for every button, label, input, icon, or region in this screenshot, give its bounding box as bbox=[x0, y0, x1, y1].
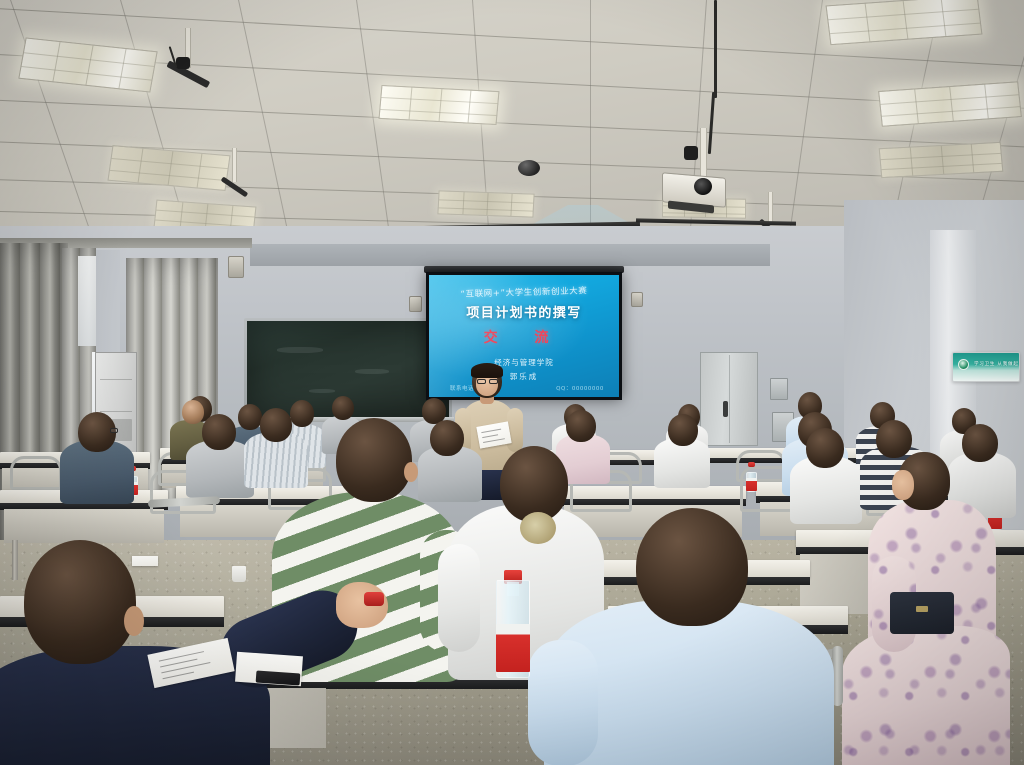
audience-head bbox=[430, 420, 464, 456]
bottle-cap bbox=[748, 462, 755, 467]
bottle-label bbox=[496, 624, 530, 672]
bag-clasp bbox=[916, 606, 928, 612]
ceiling-mount-rod bbox=[768, 192, 773, 224]
paper-cup bbox=[232, 566, 246, 582]
security-camera-dome bbox=[518, 160, 540, 176]
window-light bbox=[78, 256, 96, 346]
audience-arm bbox=[528, 640, 598, 765]
security-camera-head bbox=[176, 57, 190, 69]
audience-head bbox=[202, 414, 236, 450]
dress-skirt bbox=[842, 626, 1010, 765]
desk-front-panel bbox=[4, 509, 164, 543]
ceiling-light-panel bbox=[879, 142, 1004, 178]
wall-sign-text: 学习卫生 从我做起 bbox=[974, 361, 1019, 367]
ceiling-light-panel bbox=[437, 190, 534, 217]
projection-screen[interactable]: “互联网+”大学生创新创业大赛 项目计划书的撰写 交 流 经济与管理学院 郭乐成… bbox=[426, 272, 622, 400]
auxiliary-camera-head bbox=[684, 146, 698, 160]
presenter-glasses bbox=[489, 379, 498, 384]
screen-glare bbox=[429, 275, 619, 397]
ear bbox=[124, 606, 144, 636]
water-bottle bbox=[746, 462, 757, 492]
electrical-panel bbox=[770, 378, 788, 400]
handbag bbox=[890, 592, 954, 634]
presentation-slide: “互联网+”大学生创新创业大赛 项目计划书的撰写 交 流 经济与管理学院 郭乐成… bbox=[429, 275, 619, 397]
audience-arm bbox=[438, 544, 480, 652]
bottle-label bbox=[746, 478, 757, 491]
audience-head bbox=[260, 408, 292, 442]
projector-cable bbox=[714, 0, 717, 98]
audience-head bbox=[806, 428, 844, 468]
presenter-hair bbox=[471, 363, 503, 378]
ceiling-mount-rod bbox=[232, 148, 237, 182]
wall-speaker bbox=[228, 256, 244, 278]
classroom-photo: “互联网+”大学生创新创业大赛 项目计划书的撰写 交 流 经济与管理学院 郭乐成… bbox=[0, 0, 1024, 765]
audience-head bbox=[636, 508, 748, 626]
ceiling-light-panel bbox=[379, 85, 500, 125]
door-handle[interactable] bbox=[723, 401, 728, 417]
desk-leg bbox=[12, 540, 18, 580]
audience-head bbox=[336, 418, 412, 502]
paper-handout bbox=[132, 556, 158, 566]
sign-emblem-icon bbox=[958, 359, 969, 370]
wall-speaker bbox=[409, 296, 422, 312]
chair bbox=[10, 456, 62, 490]
audience-head bbox=[290, 400, 314, 427]
audience-head bbox=[500, 446, 568, 522]
audience-head bbox=[962, 424, 998, 462]
water-bottle bbox=[496, 570, 530, 678]
marker-pen bbox=[364, 592, 384, 606]
wall-speaker bbox=[631, 292, 643, 307]
wall-upper-band bbox=[250, 244, 770, 266]
classroom-door[interactable] bbox=[700, 352, 758, 446]
presenter-glasses bbox=[477, 379, 486, 384]
audience-face bbox=[892, 470, 914, 500]
eyeglasses bbox=[110, 428, 118, 433]
audience-head bbox=[238, 404, 262, 430]
audience-head bbox=[24, 540, 136, 664]
audience-head bbox=[332, 396, 354, 420]
audience-head bbox=[668, 414, 698, 446]
audience-head bbox=[566, 410, 596, 442]
audience-head bbox=[876, 420, 912, 458]
ear bbox=[404, 462, 418, 482]
audience-head bbox=[182, 400, 204, 424]
wall-sign: 学习卫生 从我做起 bbox=[952, 352, 1020, 382]
shirt-logo-patch bbox=[520, 512, 556, 544]
projector-lens bbox=[694, 178, 712, 195]
